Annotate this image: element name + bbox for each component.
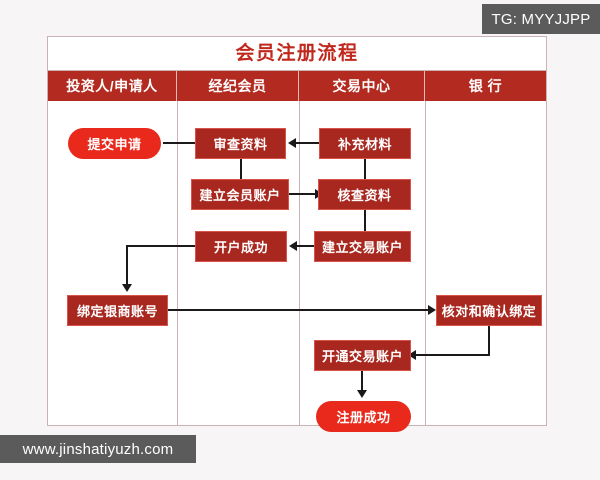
node-create-member-account[interactable]: 建立会员账户 [191, 179, 289, 210]
connector-supplement-to-review [296, 142, 319, 144]
flowchart-container: 会员注册流程 投资人/申请人 经纪会员 交易中心 银 行 提交申请 审查资料 补… [47, 36, 547, 426]
node-verify-confirm-binding[interactable]: 核对和确认绑定 [436, 295, 542, 326]
arrowhead-activate-to-success [357, 390, 367, 398]
node-activate-trading-account[interactable]: 开通交易账户 [314, 340, 411, 371]
swimlane-header-trading-center: 交易中心 [299, 71, 425, 101]
connector-bind-bank-to-verify-binding [168, 309, 430, 311]
swimlane-header-bank: 银 行 [425, 71, 546, 101]
node-review-materials[interactable]: 审查资料 [195, 128, 286, 159]
arrowhead-create-trading-to-account-opened [289, 241, 297, 251]
node-verify-materials[interactable]: 核查资料 [318, 179, 411, 210]
swimlane-divider-2 [299, 101, 300, 425]
swimlane-divider-1 [177, 101, 178, 425]
arrowhead-bind-bank-to-verify-binding [428, 305, 436, 315]
node-registration-success[interactable]: 注册成功 [316, 401, 411, 432]
connector-account-opened-elbow-horizontal [126, 245, 195, 247]
swimlane-header-investor: 投资人/申请人 [48, 71, 177, 101]
node-account-opened[interactable]: 开户成功 [195, 231, 287, 262]
swimlane-header-row: 投资人/申请人 经纪会员 交易中心 银 行 [48, 71, 546, 101]
node-supplement-materials[interactable]: 补充材料 [319, 128, 411, 159]
arrowhead-supplement-to-review [288, 138, 296, 148]
telegram-watermark-badge: TG: MYYJJPP [482, 4, 600, 34]
node-bind-bank-account[interactable]: 绑定银商账号 [67, 295, 168, 326]
arrowhead-account-opened-to-bind-bank [122, 284, 132, 292]
swimlane-divider-3 [425, 101, 426, 425]
connector-create-member-to-verify [289, 193, 317, 195]
connector-verify-binding-elbow-vertical [488, 326, 490, 356]
node-create-trading-account[interactable]: 建立交易账户 [314, 231, 411, 262]
connector-create-trading-to-account-opened [297, 245, 314, 247]
swimlane-header-broker: 经纪会员 [177, 71, 299, 101]
site-watermark-badge: www.jinshatiyuzh.com [0, 435, 196, 463]
node-submit-application[interactable]: 提交申请 [68, 128, 161, 159]
connector-verify-binding-elbow-horizontal [416, 354, 490, 356]
flowchart-title: 会员注册流程 [48, 37, 546, 71]
connector-account-opened-elbow-vertical [126, 245, 128, 287]
